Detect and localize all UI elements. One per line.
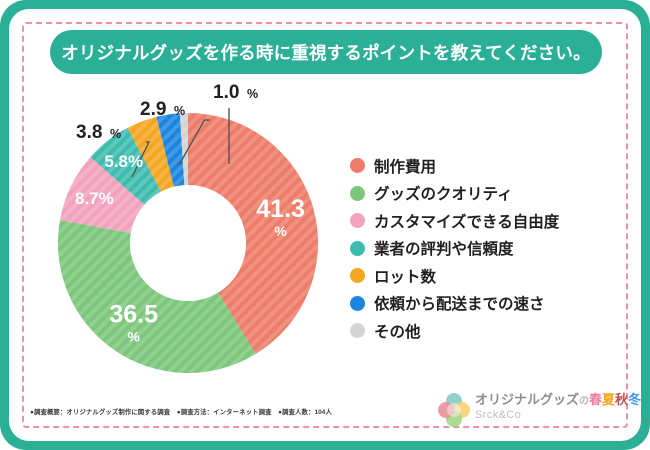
slice-unit-label: % (110, 127, 121, 141)
logo-flower-icon (437, 393, 471, 427)
logo-aki: 秋 (615, 392, 628, 407)
legend-color-swatch (350, 296, 365, 311)
donut-chart-svg: 41.3%36.5%8.7%5.8%3.8%2.9%1.0% (28, 80, 348, 390)
logo-text: オリジナルグッズの春夏秋冬 Srck&Co (475, 392, 641, 422)
logo-main-line: オリジナルグッズの春夏秋冬 (475, 392, 641, 409)
legend-item-label: 制作費用 (374, 155, 436, 177)
donut-center-hole (130, 185, 246, 301)
survey-footnote: ●調査概要：オリジナルグッズ制作に関する調査 ●調査方法：インターネット調査 ●… (30, 407, 332, 416)
legend-color-swatch (350, 268, 365, 283)
legend-item-label: カスタマイズできる自由度 (374, 210, 559, 232)
legend-item-label: 依頼から配送までの速さ (374, 292, 545, 314)
page-title: オリジナルグッズを作る時に重視するポイントを教えてください。 (61, 40, 591, 65)
legend-item[interactable]: ロット数 (350, 262, 600, 290)
logo-fuyu: 冬 (628, 392, 641, 407)
slice-value-label: 41.3 (256, 195, 305, 223)
legend-color-swatch (350, 213, 365, 228)
legend-color-swatch (350, 158, 365, 173)
slice-value-label: 3.8 (76, 122, 102, 143)
infographic-root: オリジナルグッズを作る時に重視するポイントを教えてください。 41.3%36.5… (0, 0, 650, 450)
legend-item-label: 業者の評判や信頼度 (374, 237, 514, 259)
slice-value-label: 5.8% (104, 152, 143, 171)
legend-color-swatch (350, 241, 365, 256)
slice-value-label: 36.5 (109, 300, 158, 328)
slice-value-label: 1.0 (213, 82, 239, 103)
chart-legend: 制作費用グッズのクオリティカスタマイズできる自由度業者の評判や信頼度ロット数依頼… (350, 152, 600, 345)
title-banner: オリジナルグッズを作る時に重視するポイントを教えてください。 (50, 30, 602, 74)
legend-item[interactable]: 業者の評判や信頼度 (350, 235, 600, 263)
logo-haru: 春 (589, 392, 602, 407)
slice-unit-label: % (247, 87, 258, 101)
logo-sub-line: Srck&Co (475, 409, 641, 422)
legend-item-label: ロット数 (374, 265, 436, 287)
donut-chart: 41.3%36.5%8.7%5.8%3.8%2.9%1.0% (28, 80, 348, 390)
legend-item[interactable]: グッズのクオリティ (350, 180, 600, 208)
slice-unit-label: % (127, 328, 140, 344)
slice-unit-label: % (274, 223, 287, 239)
slice-value-label: 2.9 (140, 99, 166, 120)
slice-value-label: 8.7% (75, 189, 114, 208)
legend-item-label: その他 (374, 320, 421, 342)
legend-item[interactable]: 制作費用 (350, 152, 600, 180)
legend-item[interactable]: その他 (350, 317, 600, 345)
legend-color-swatch (350, 186, 365, 201)
logo-prefix: オリジナルグッズ (475, 392, 579, 407)
legend-item[interactable]: カスタマイズできる自由度 (350, 207, 600, 235)
legend-item-label: グッズのクオリティ (374, 182, 513, 204)
logo-natsu: 夏 (602, 392, 615, 407)
legend-item[interactable]: 依頼から配送までの速さ (350, 290, 600, 318)
legend-color-swatch (350, 323, 365, 338)
brand-logo[interactable]: オリジナルグッズの春夏秋冬 Srck&Co (437, 390, 617, 428)
slice-unit-label: % (174, 104, 185, 118)
logo-particle: の (579, 396, 589, 407)
